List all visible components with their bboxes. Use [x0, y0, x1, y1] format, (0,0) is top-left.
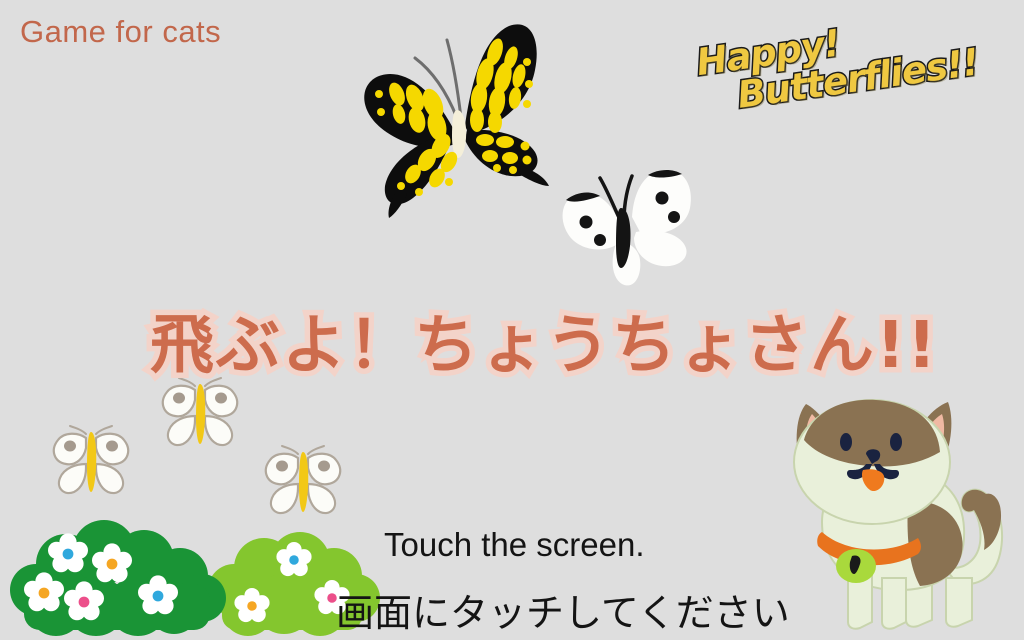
cat-illustration	[760, 382, 1024, 640]
small-white-butterfly-icon	[155, 382, 243, 454]
white-butterfly-icon	[558, 162, 708, 287]
brand-label: Game for cats	[20, 14, 221, 50]
instruction-english: Touch the screen.	[384, 526, 645, 564]
page-title: 飛ぶよ！ちょうちょさん!!	[150, 294, 938, 386]
small-white-butterfly-icon	[258, 450, 346, 522]
game-splash-screen[interactable]: Game for cats Happy! Butterflies!!	[0, 0, 1024, 640]
swallowtail-butterfly-icon	[345, 18, 575, 218]
small-white-butterfly-icon	[46, 430, 134, 502]
instruction-japanese: 画面にタッチしてください	[336, 582, 790, 637]
game-logo-badge: Happy! Butterflies!!	[685, 0, 1015, 131]
dark-green-bush	[12, 518, 222, 640]
